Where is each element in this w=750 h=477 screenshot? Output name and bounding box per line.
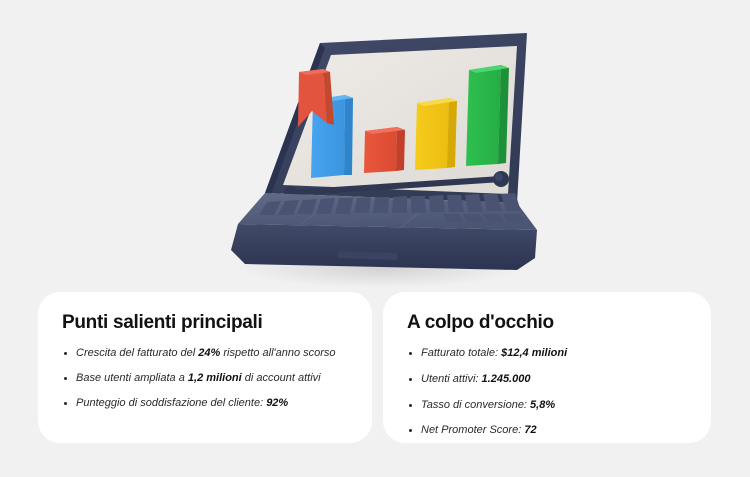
summary-cards-row: Punti salienti principali Crescita del f…: [0, 292, 750, 477]
card-highlights-list: Crescita del fatturato del 24% rispetto …: [62, 346, 348, 411]
list-item-prefix: Fatturato totale:: [421, 347, 501, 359]
laptop-bar-chart-illustration: [205, 18, 545, 286]
list-item-suffix: di account attivi: [242, 372, 321, 384]
bar-red: [364, 127, 405, 173]
list-item-prefix: Tasso di conversione:: [421, 399, 530, 411]
list-item-strong: 92%: [266, 397, 288, 409]
bar-yellow: [415, 98, 457, 170]
card-punti-salienti: Punti salienti principali Crescita del f…: [38, 292, 372, 443]
list-item: Utenti attivi: 1.245.000: [407, 372, 687, 387]
laptop-svg: [205, 18, 545, 286]
list-item-prefix: Crescita del fatturato del: [76, 347, 198, 359]
bar-green: [466, 65, 509, 166]
list-item-prefix: Utenti attivi:: [421, 373, 482, 385]
laptop-base: [231, 193, 537, 270]
card-glance-list: Fatturato totale: $12,4 milioni Utenti a…: [407, 346, 687, 438]
list-item-strong: 1.245.000: [482, 373, 531, 385]
list-item-suffix: rispetto all'anno scorso: [220, 347, 335, 359]
base-body: [231, 224, 537, 270]
list-item: Base utenti ampliata a 1,2 milioni di ac…: [62, 371, 348, 386]
list-item-strong: 5,8%: [530, 399, 555, 411]
list-item-prefix: Net Promoter Score:: [421, 424, 524, 436]
list-item: Punteggio di soddisfazione del cliente: …: [62, 396, 348, 411]
list-item-strong: 24%: [198, 347, 220, 359]
list-item-strong: $12,4 milioni: [501, 347, 567, 359]
card-highlights-title: Punti salienti principali: [62, 312, 348, 334]
list-item: Crescita del fatturato del 24% rispetto …: [62, 346, 348, 361]
list-item: Fatturato totale: $12,4 milioni: [407, 346, 687, 361]
list-item-prefix: Base utenti ampliata a: [76, 372, 188, 384]
list-item: Net Promoter Score: 72: [407, 423, 687, 438]
laptop-lid: [265, 33, 527, 203]
list-item-strong: 72: [524, 424, 536, 436]
list-item-strong: 1,2 milioni: [188, 372, 242, 384]
list-item: Tasso di conversione: 5,8%: [407, 398, 687, 413]
list-item-prefix: Punteggio di soddisfazione del cliente:: [76, 397, 266, 409]
card-a-colpo-docchio: A colpo d'occhio Fatturato totale: $12,4…: [383, 292, 711, 443]
hero-illustration-area: [0, 0, 750, 288]
card-glance-title: A colpo d'occhio: [407, 312, 687, 334]
